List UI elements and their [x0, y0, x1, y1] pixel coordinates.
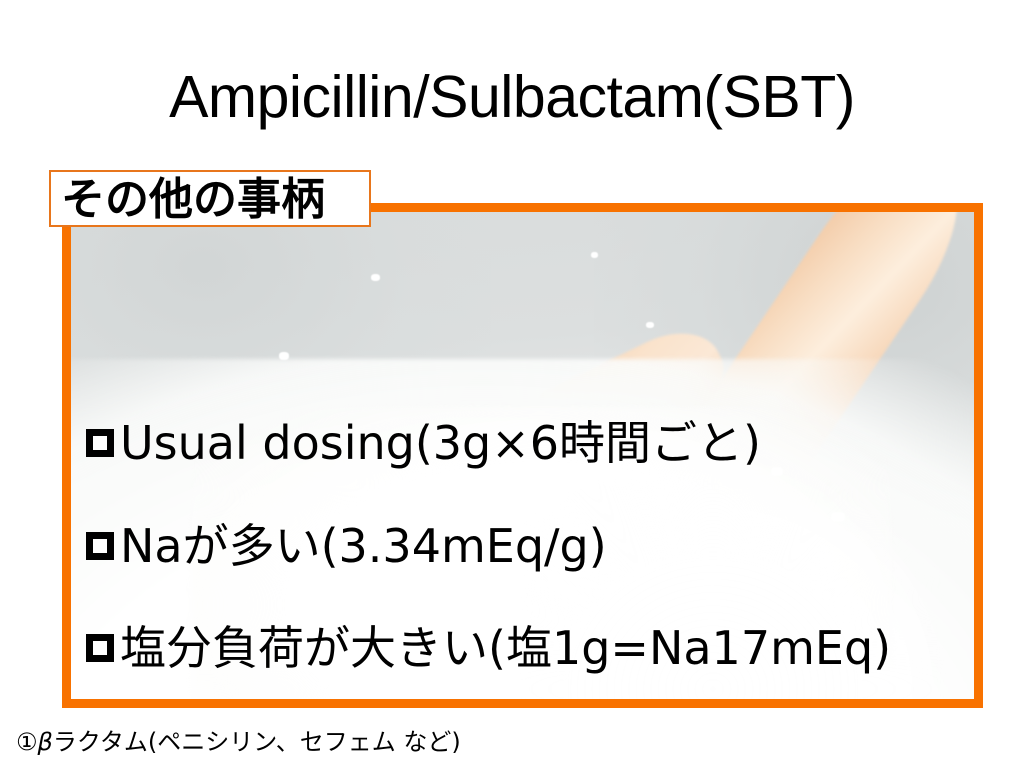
section-label-box: その他の事柄: [49, 170, 371, 227]
salt-speck: [371, 274, 380, 281]
list-item-label: Naが多い(3.34mEq/g): [120, 518, 607, 574]
salt-speck: [591, 252, 598, 258]
hollow-square-bullet-icon: [86, 532, 114, 560]
section-label-text: その他の事柄: [61, 172, 325, 227]
list-item-label: Usual dosing(3g×6時間ごと): [120, 415, 761, 471]
footnote: ①βラクタム(ペニシリン、セフェム など): [16, 727, 461, 757]
list-item: 塩分負荷が大きい(塩1g=Na17mEq): [86, 620, 891, 676]
list-item: Usual dosing(3g×6時間ごと): [86, 415, 761, 471]
salt-speck: [831, 512, 845, 522]
page-title: Ampicillin/Sulbactam(SBT): [0, 62, 1024, 132]
list-item-label: 塩分負荷が大きい(塩1g=Na17mEq): [120, 620, 891, 676]
slide-canvas: Ampicillin/Sulbactam(SBT) その他の事柄: [0, 0, 1024, 768]
hollow-square-bullet-icon: [86, 429, 114, 457]
salt-speck: [771, 467, 783, 476]
salt-speck: [646, 322, 654, 328]
footnote-beta-symbol: β: [38, 728, 53, 756]
footnote-text: ラクタム(ペニシリン、セフェム など): [53, 728, 461, 756]
list-item: Naが多い(3.34mEq/g): [86, 518, 607, 574]
footnote-marker: ①: [16, 728, 38, 756]
salt-speck: [279, 352, 289, 360]
hollow-square-bullet-icon: [86, 634, 114, 662]
